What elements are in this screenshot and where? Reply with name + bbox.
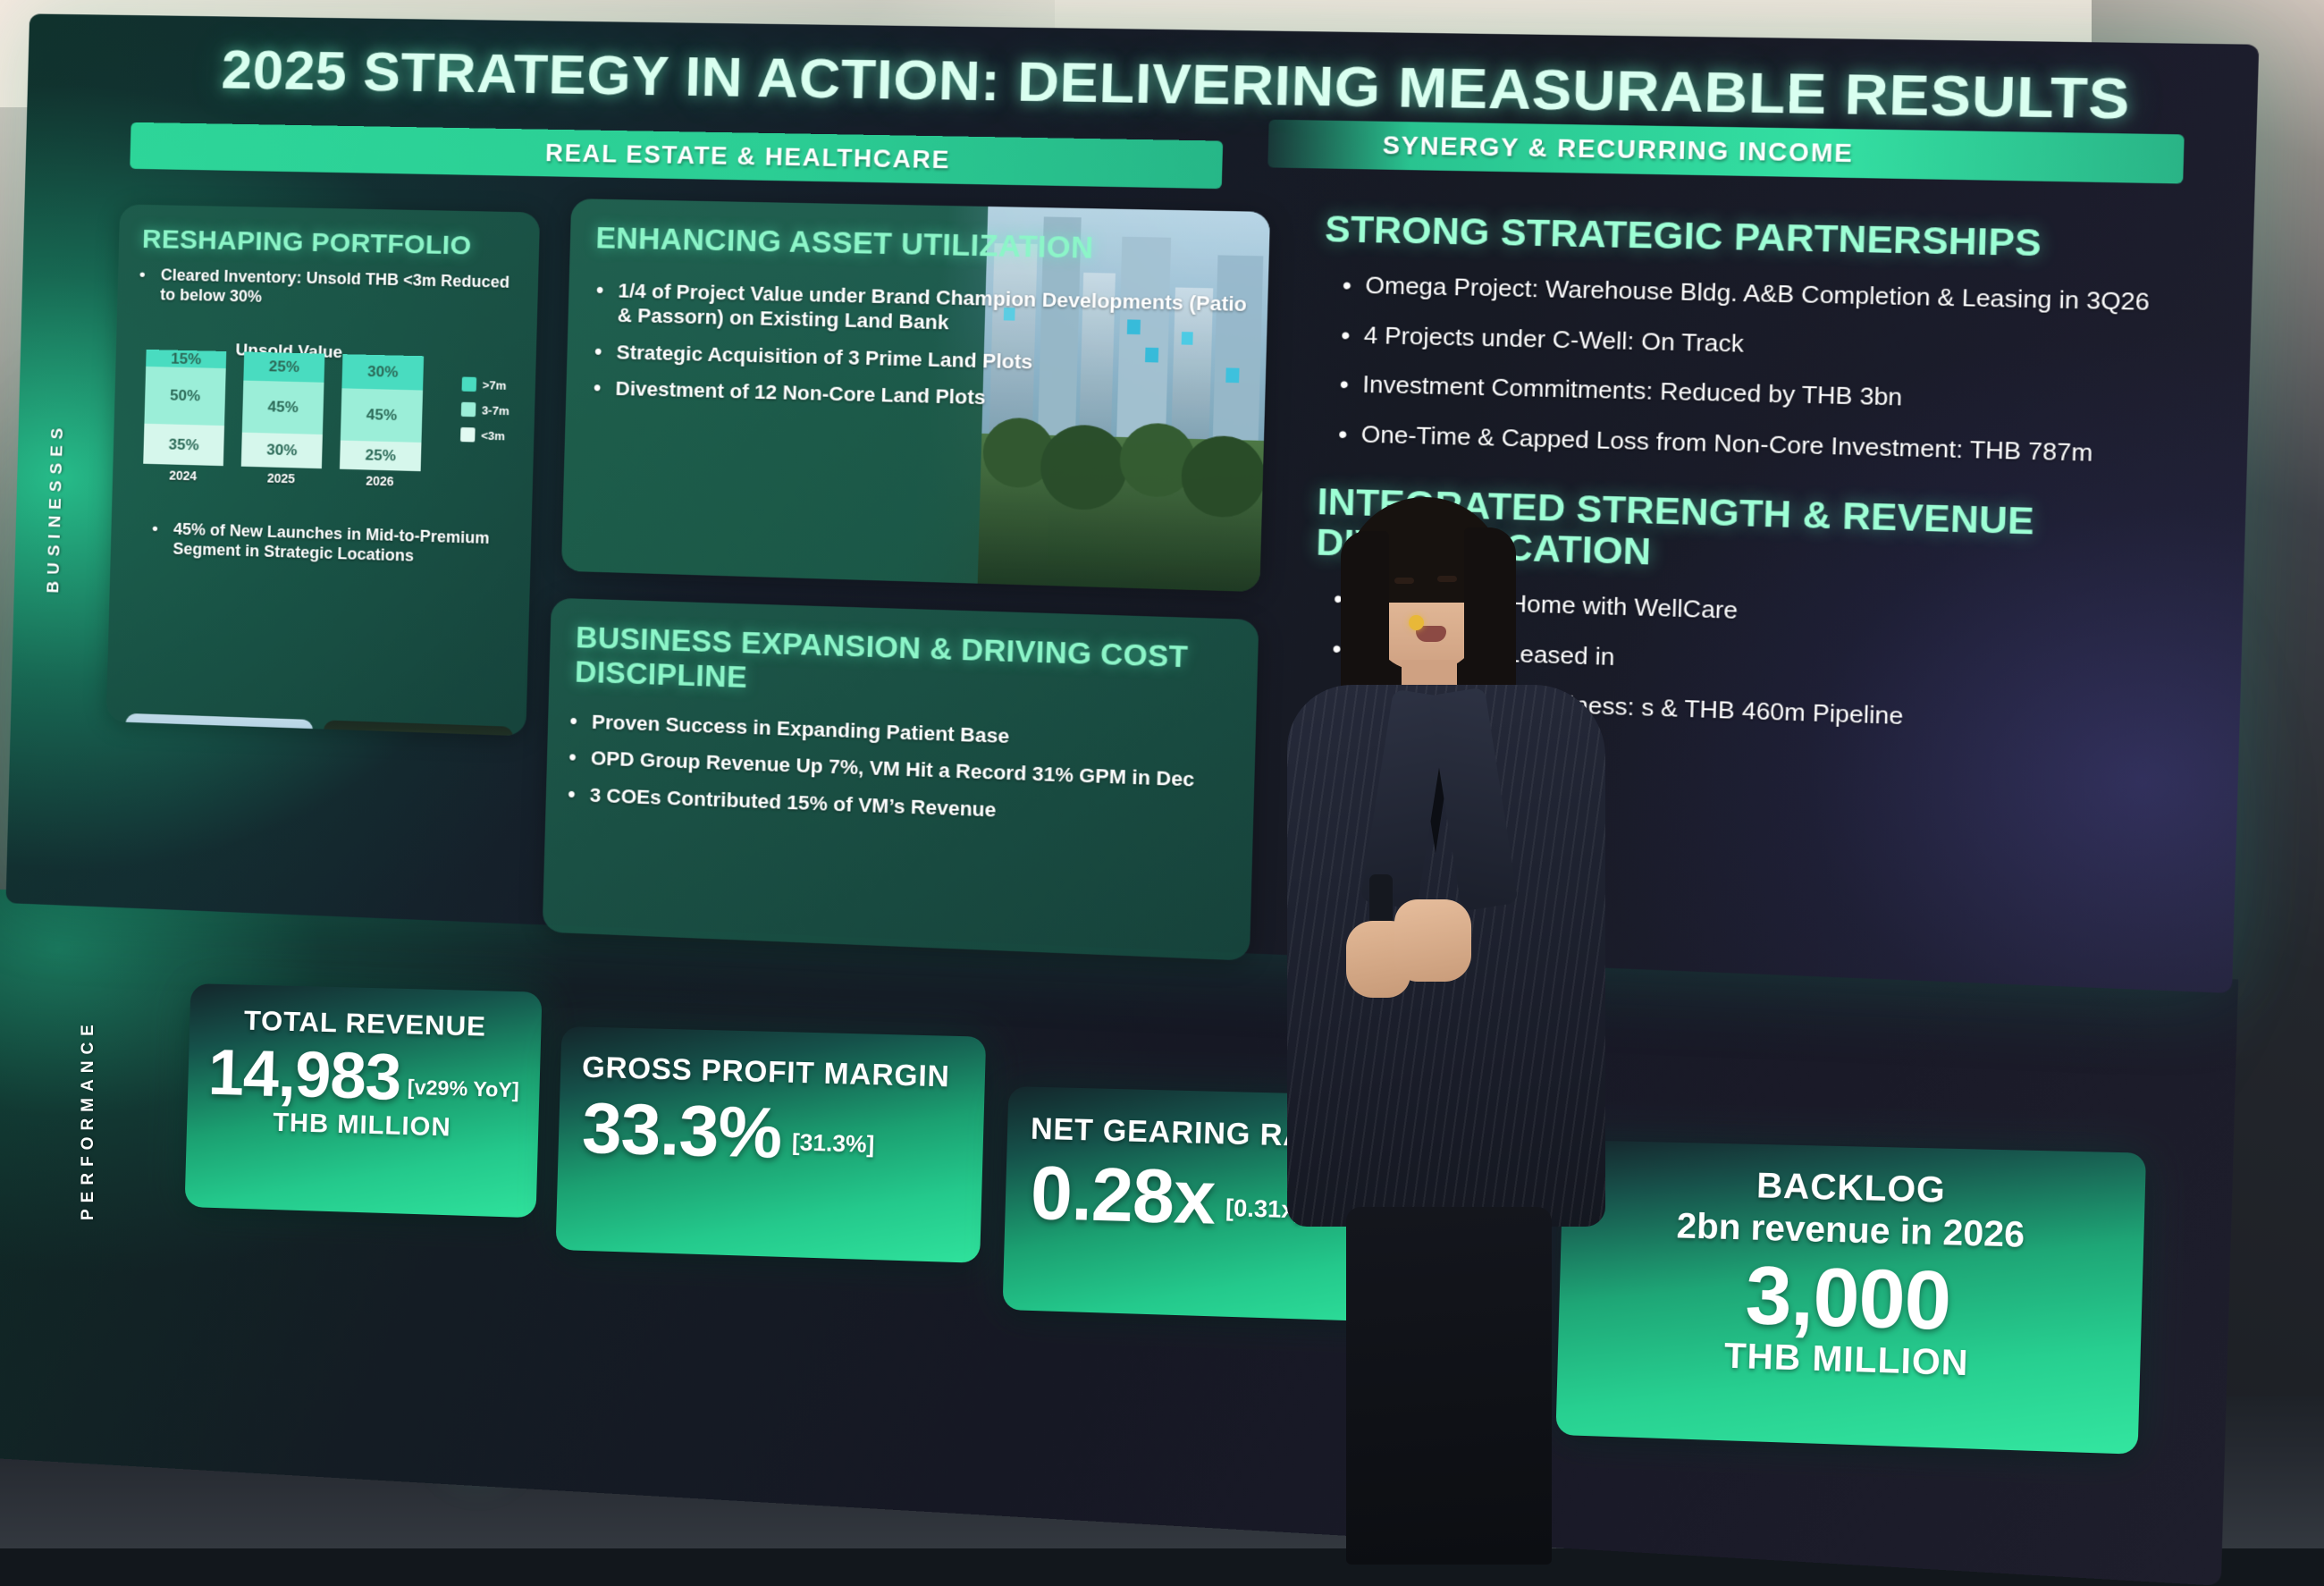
bar-column-2025: 25% 45% 30% 2025 bbox=[240, 352, 324, 487]
chart-legend: >7m 3-7m <3m bbox=[459, 376, 509, 453]
legend-label: <3m bbox=[481, 428, 505, 443]
bar-column-2026: 30% 45% 25% 2026 bbox=[339, 354, 424, 489]
hand-right bbox=[1394, 899, 1471, 982]
card-enhancing-asset-utilization: ENHANCING ASSET UTILIZATION 1/4 of Proje… bbox=[561, 198, 1270, 592]
x-tick-label: 2024 bbox=[143, 468, 223, 484]
chart-plot-area: 15% 50% 35% 2024 25% 45% 30% 2025 bbox=[132, 364, 516, 493]
legend-label: 3-7m bbox=[482, 403, 509, 418]
card-heading-business-expansion: BUSINESS EXPANSION & DRIVING COST DISCIP… bbox=[575, 620, 1234, 712]
x-tick-label: 2026 bbox=[339, 473, 420, 490]
card-business-expansion: BUSINESS EXPANSION & DRIVING COST DISCIP… bbox=[543, 598, 1259, 961]
card-reshaping-portfolio: RESHAPING PORTFOLIO Cleared Inventory: U… bbox=[106, 204, 540, 736]
list-item: Divestment of 12 Non-Core Land Plots bbox=[592, 376, 1247, 417]
stat-label: GROSS PROFIT MARGIN bbox=[582, 1050, 986, 1095]
bullet-list-asset: 1/4 of Project Value under Brand Champio… bbox=[592, 279, 1250, 418]
x-tick-label: 2025 bbox=[240, 470, 322, 487]
list-item: 45% of New Launches in Mid-to-Premium Se… bbox=[149, 519, 527, 570]
headset-microphone-icon bbox=[1409, 615, 1424, 630]
stacked-bar: 30% 45% 25% bbox=[340, 354, 424, 471]
legend-entry: 3-7m bbox=[460, 402, 509, 418]
bullet-list-reshaping-bottom: 45% of New Launches in Mid-to-Premium Se… bbox=[149, 519, 528, 583]
legend-swatch-3to7m bbox=[460, 402, 476, 418]
stat-card-total-revenue: TOTAL REVENUE 14,983 [v29% YoY] THB MILL… bbox=[185, 983, 543, 1218]
bullet-list-business-expansion: Proven Success in Expanding Patient Base… bbox=[566, 709, 1237, 831]
project-photo-strip bbox=[122, 713, 513, 737]
list-item: Strategic Acquisition of 3 Prime Land Pl… bbox=[593, 340, 1248, 380]
stacked-bar: 15% 50% 35% bbox=[143, 350, 226, 466]
section-header-real-estate: REAL ESTATE & HEALTHCARE bbox=[130, 122, 1223, 189]
stat-value: 33.3% bbox=[581, 1093, 782, 1169]
bar-column-2024: 15% 50% 35% 2024 bbox=[143, 350, 227, 484]
bullet-list-reshaping-top: Cleared Inventory: Unsold THB <3m Reduce… bbox=[137, 266, 524, 314]
stat-value: 0.28x bbox=[1030, 1156, 1216, 1235]
slide-canvas: 2025 STRATEGY IN ACTION: DELIVERING MEAS… bbox=[5, 13, 2259, 993]
legend-swatch-lt3m bbox=[460, 427, 476, 443]
heading-strong-strategic-partnerships: STRONG STRATEGIC PARTNERSHIPS bbox=[1325, 209, 2234, 268]
bar-segment-gt7m: 25% bbox=[243, 352, 324, 383]
side-label-businesses: BUSINESSES bbox=[44, 308, 71, 594]
stacked-bar: 25% 45% 30% bbox=[241, 352, 325, 469]
bar-segment-lt3m: 35% bbox=[143, 424, 224, 466]
speaker-presenter bbox=[1294, 501, 1589, 1548]
slide-title: 2025 STRATEGY IN ACTION: DELIVERING MEAS… bbox=[221, 38, 2167, 133]
list-item: One-Time & Capped Loss from Non-Core Inv… bbox=[1336, 419, 2228, 472]
legend-swatch-gt7m bbox=[461, 376, 476, 392]
led-presentation-screen: 2025 STRATEGY IN ACTION: DELIVERING MEAS… bbox=[5, 13, 2259, 993]
bar-segment-3to7m: 45% bbox=[341, 389, 423, 443]
bullet-list-partnerships: Omega Project: Warehouse Bldg. A&B Compl… bbox=[1336, 271, 2232, 472]
stat-comparison: [v29% YoY] bbox=[407, 1075, 519, 1113]
bar-segment-lt3m: 30% bbox=[241, 432, 323, 468]
list-item: Cleared Inventory: Unsold THB <3m Reduce… bbox=[137, 266, 524, 314]
legend-label: >7m bbox=[482, 378, 506, 392]
eye-left bbox=[1394, 578, 1414, 584]
bar-segment-3to7m: 50% bbox=[144, 367, 225, 426]
photo-condominium bbox=[122, 713, 313, 737]
unsold-value-chart: Unsold Value 15% 50% 35% 2024 25% 4 bbox=[131, 339, 517, 519]
bar-segment-lt3m: 25% bbox=[340, 441, 422, 472]
bar-segment-gt7m: 30% bbox=[341, 354, 424, 391]
bar-segment-3to7m: 45% bbox=[242, 381, 324, 434]
photo-house-exterior bbox=[321, 720, 514, 736]
stat-comparison: [31.3%] bbox=[791, 1129, 875, 1172]
stat-card-backlog: BACKLOG 2bn revenue in 2026 3,000 THB MI… bbox=[1555, 1140, 2146, 1455]
eye-right bbox=[1437, 576, 1457, 582]
stat-value: 14,983 bbox=[207, 1042, 401, 1110]
list-item: 4 Projects under C-Well: On Track bbox=[1339, 320, 2231, 370]
list-item: Omega Project: Warehouse Bldg. A&B Compl… bbox=[1340, 271, 2232, 319]
legend-entry: <3m bbox=[460, 427, 509, 443]
card-heading-reshaping: RESHAPING PORTFOLIO bbox=[142, 224, 540, 263]
bar-segment-gt7m: 15% bbox=[146, 350, 226, 368]
trousers bbox=[1346, 1207, 1552, 1565]
side-label-performance: PERFORMANCE bbox=[79, 970, 98, 1220]
stat-card-gross-profit-margin: GROSS PROFIT MARGIN 33.3% [31.3%] bbox=[556, 1026, 987, 1263]
list-item: Investment Commitments: Reduced by THB 3… bbox=[1337, 370, 2229, 421]
legend-entry: >7m bbox=[461, 376, 510, 392]
